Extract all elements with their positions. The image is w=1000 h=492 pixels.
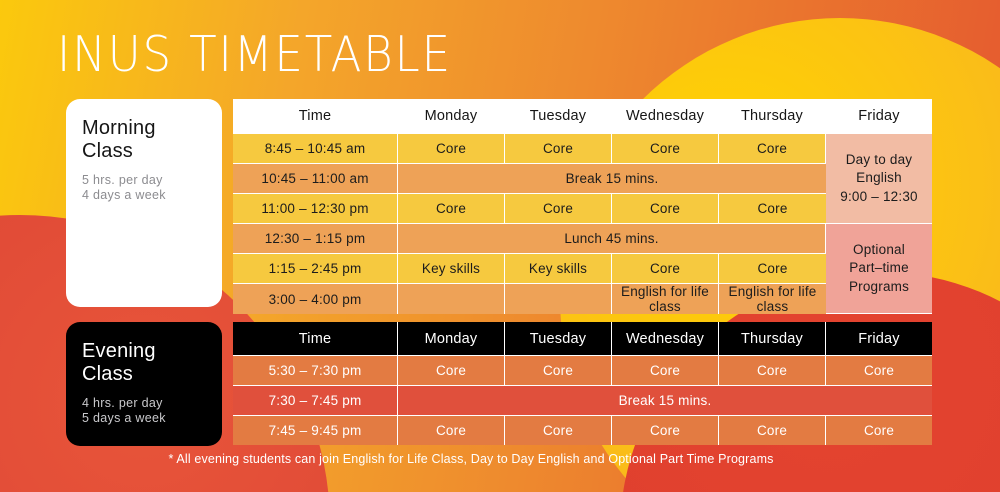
evening-break-cell: Break 15 mins. [398, 386, 932, 416]
morning-time-2: 10:45 – 11:00 am [233, 164, 398, 194]
evening-card-title: Evening Class [82, 340, 206, 387]
morning-r5-wednesday: Core [612, 254, 719, 284]
evening-r1-wednesday: Core [612, 356, 719, 386]
evening-r1-monday: Core [398, 356, 505, 386]
evening-r3-tuesday: Core [505, 416, 612, 445]
morning-card-title: Morning Class [82, 117, 206, 164]
morning-header-thursday: Thursday [719, 99, 826, 134]
morning-card-subtitle: 5 hrs. per day 4 days a week [82, 173, 206, 204]
morning-r6-monday [398, 284, 505, 314]
morning-r3-tuesday: Core [505, 194, 612, 224]
evening-card-subtitle: 4 hrs. per day 5 days a week [82, 396, 206, 427]
morning-r5-thursday: Core [719, 254, 826, 284]
morning-time-3: 11:00 – 12:30 pm [233, 194, 398, 224]
table-row: 5:30 – 7:30 pm Core Core Core Core Core [233, 356, 932, 386]
morning-r3-wednesday: Core [612, 194, 719, 224]
morning-friday-bottom-cell: Optional Part–time Programs [826, 224, 932, 314]
evening-r1-tuesday: Core [505, 356, 612, 386]
evening-header-wednesday: Wednesday [612, 322, 719, 356]
morning-time-5: 1:15 – 2:45 pm [233, 254, 398, 284]
morning-header-tuesday: Tuesday [505, 99, 612, 134]
morning-r5-tuesday: Key skills [505, 254, 612, 284]
evening-r3-monday: Core [398, 416, 505, 445]
morning-header-wednesday: Wednesday [612, 99, 719, 134]
morning-r1-wednesday: Core [612, 134, 719, 164]
evening-header-monday: Monday [398, 322, 505, 356]
morning-r5-monday: Key skills [398, 254, 505, 284]
evening-r1-friday: Core [826, 356, 932, 386]
table-row: 8:45 – 10:45 am Core Core Core Core Day … [233, 134, 932, 164]
morning-time-4: 12:30 – 1:15 pm [233, 224, 398, 254]
evening-header-thursday: Thursday [719, 322, 826, 356]
morning-r3-thursday: Core [719, 194, 826, 224]
morning-r1-thursday: Core [719, 134, 826, 164]
evening-time-2: 7:30 – 7:45 pm [233, 386, 398, 416]
table-row: 12:30 – 1:15 pm Lunch 45 mins. Optional … [233, 224, 932, 254]
timetable-poster: INUS TIMETABLE Morning Class 5 hrs. per … [0, 0, 1000, 492]
morning-r3-monday: Core [398, 194, 505, 224]
evening-header-time: Time [233, 322, 398, 356]
morning-class-card: Morning Class 5 hrs. per day 4 days a we… [66, 99, 222, 307]
evening-header-row: Time Monday Tuesday Wednesday Thursday F… [233, 322, 932, 356]
table-row: 7:45 – 9:45 pm Core Core Core Core Core [233, 416, 932, 445]
morning-header-friday: Friday [826, 99, 932, 134]
evening-r1-thursday: Core [719, 356, 826, 386]
footnote: * All evening students can join English … [0, 452, 1000, 466]
evening-r3-wednesday: Core [612, 416, 719, 445]
evening-header-friday: Friday [826, 322, 932, 356]
morning-timetable: Time Monday Tuesday Wednesday Thursday F… [233, 99, 932, 314]
morning-r6-tuesday [505, 284, 612, 314]
morning-r1-tuesday: Core [505, 134, 612, 164]
morning-lunch-cell: Lunch 45 mins. [398, 224, 826, 254]
evening-time-3: 7:45 – 9:45 pm [233, 416, 398, 445]
evening-class-card: Evening Class 4 hrs. per day 5 days a we… [66, 322, 222, 446]
evening-r3-thursday: Core [719, 416, 826, 445]
morning-break-cell: Break 15 mins. [398, 164, 826, 194]
morning-r6-wednesday: English for life class [612, 284, 719, 314]
evening-header-tuesday: Tuesday [505, 322, 612, 356]
morning-r6-thursday: English for life class [719, 284, 826, 314]
evening-time-1: 5:30 – 7:30 pm [233, 356, 398, 386]
morning-header-monday: Monday [398, 99, 505, 134]
morning-header-time: Time [233, 99, 398, 134]
evening-timetable: Time Monday Tuesday Wednesday Thursday F… [233, 322, 932, 445]
evening-r3-friday: Core [826, 416, 932, 445]
table-row: 7:30 – 7:45 pm Break 15 mins. [233, 386, 932, 416]
morning-time-1: 8:45 – 10:45 am [233, 134, 398, 164]
morning-header-row: Time Monday Tuesday Wednesday Thursday F… [233, 99, 932, 134]
morning-friday-top-cell: Day to day English 9:00 – 12:30 [826, 134, 932, 224]
morning-time-6: 3:00 – 4:00 pm [233, 284, 398, 314]
page-title: INUS TIMETABLE [57, 26, 452, 83]
morning-r1-monday: Core [398, 134, 505, 164]
